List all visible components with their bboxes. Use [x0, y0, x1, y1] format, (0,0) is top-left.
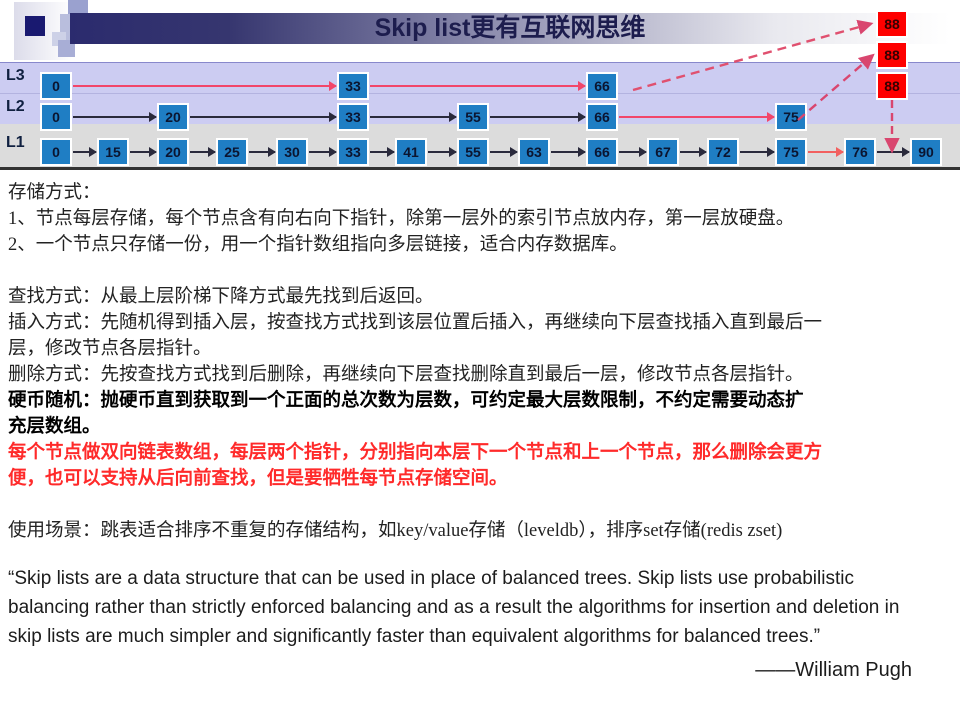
skiplist-node: 75 [775, 103, 807, 131]
skiplist-link-arrow [680, 151, 706, 153]
skiplist-node: 72 [707, 138, 739, 166]
inserted-node: 88 [876, 72, 908, 100]
skiplist-node: 90 [910, 138, 942, 166]
skiplist-node: 30 [276, 138, 308, 166]
insert-method-line-2: 层，修改节点各层指针。 [8, 334, 952, 360]
skiplist-link-arrow [190, 116, 336, 118]
skiplist-link-arrow [370, 85, 585, 87]
doubly-linked-note-line-1: 每个节点做双向链表数组，每层两个指针，分别指向本层下一个节点和上一个节点，那么删… [8, 438, 952, 464]
coin-random-line-1: 硬币随机：抛硬币直到获取到一个正面的总次数为层数，可约定最大层数限制，不约定需要… [8, 386, 952, 412]
pugh-quote: “Skip lists are a data structure that ca… [8, 564, 908, 651]
skiplist-link-arrow [551, 151, 585, 153]
skiplist-link-arrow [490, 116, 585, 118]
skiplist-node: 67 [647, 138, 679, 166]
level-label-l2: L2 [6, 98, 38, 116]
skiplist-link-arrow [740, 151, 774, 153]
skiplist-node: 55 [457, 103, 489, 131]
skiplist-node: 0 [40, 103, 72, 131]
skiplist-link-arrow [619, 116, 774, 118]
skiplist-link-arrow [190, 151, 215, 153]
skiplist-link-arrow [309, 151, 336, 153]
skiplist-link-arrow [370, 116, 456, 118]
skiplist-node: 55 [457, 138, 489, 166]
skiplist-node: 33 [337, 138, 369, 166]
skiplist-link-arrow [249, 151, 275, 153]
skiplist-node: 63 [518, 138, 550, 166]
band-divider-mid [0, 93, 960, 94]
doubly-linked-note-line-2: 便，也可以支持从后向前查找，但是要牺牲每节点存储空间。 [8, 464, 952, 490]
skiplist-node: 20 [157, 103, 189, 131]
skiplist-link-arrow [619, 151, 646, 153]
storage-heading: 存储方式： [8, 178, 952, 204]
skiplist-node: 66 [586, 103, 618, 131]
skiplist-link-arrow [73, 116, 156, 118]
skiplist-node: 33 [337, 72, 369, 100]
usage-scenario-line: 使用场景：跳表适合排序不重复的存储结构，如key/value存储（leveldb… [8, 516, 952, 542]
skiplist-link-arrow [130, 151, 156, 153]
skiplist-node: 66 [586, 72, 618, 100]
inserted-node: 88 [876, 41, 908, 69]
delete-method-line: 删除方式：先按查找方式找到后删除，再继续向下层查找删除直到最后一层，修改节点各层… [8, 360, 952, 386]
skiplist-link-arrow [808, 151, 843, 153]
level-band-l3 [0, 62, 960, 93]
coin-random-line-2: 充层数组。 [8, 412, 952, 438]
skiplist-node: 25 [216, 138, 248, 166]
skip-list-diagram: L3 L2 L1 0152025303341556366677275769002… [0, 62, 960, 175]
skiplist-link-arrow [73, 151, 96, 153]
band-divider-bottom [0, 167, 960, 170]
skiplist-node: 20 [157, 138, 189, 166]
skiplist-link-arrow [370, 151, 394, 153]
insert-method-line-1: 插入方式：先随机得到插入层，按查找方式找到该层位置后插入，再继续向下层查找插入直… [8, 308, 952, 334]
skiplist-node: 0 [40, 72, 72, 100]
skiplist-node: 76 [844, 138, 876, 166]
skiplist-node: 0 [40, 138, 72, 166]
storage-item-1: 1、节点每层存储，每个节点含有向右向下指针，除第一层外的索引节点放内存，第一层放… [8, 204, 952, 230]
skiplist-link-arrow [73, 85, 336, 87]
skiplist-node: 41 [395, 138, 427, 166]
quote-attribution: ——William Pugh [0, 659, 912, 682]
level-label-l3: L3 [6, 67, 38, 85]
level-label-l1: L1 [6, 134, 38, 152]
skiplist-node: 75 [775, 138, 807, 166]
slide-header: Skip list更有互联网思维 [0, 0, 960, 62]
storage-item-2: 2、一个节点只存储一份，用一个指针数组指向多层链接，适合内存数据库。 [8, 230, 952, 256]
skiplist-node: 15 [97, 138, 129, 166]
search-method-line: 查找方式：从最上层阶梯下降方式最先找到后返回。 [8, 282, 952, 308]
decorative-square-dark [25, 16, 45, 36]
skiplist-node: 66 [586, 138, 618, 166]
inserted-node: 88 [876, 10, 908, 38]
page-title: Skip list更有互联网思维 [70, 11, 950, 46]
skiplist-link-arrow [877, 151, 909, 153]
band-divider-top [0, 62, 960, 63]
skiplist-node: 33 [337, 103, 369, 131]
skiplist-link-arrow [490, 151, 517, 153]
skiplist-link-arrow [428, 151, 456, 153]
